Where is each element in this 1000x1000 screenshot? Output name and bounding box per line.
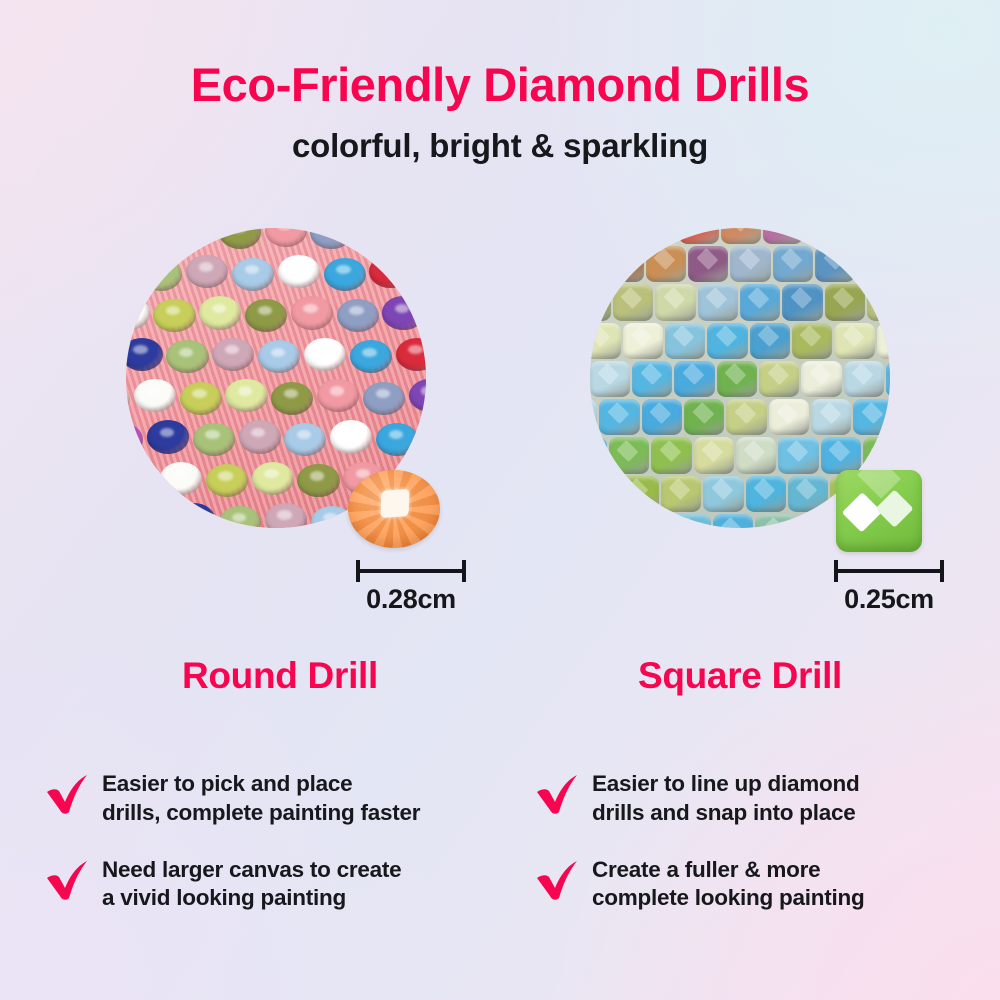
round-drill-bead	[278, 255, 320, 288]
square-drill-bead	[642, 399, 682, 435]
round-drill-bead	[127, 228, 169, 249]
round-drill-bead	[337, 299, 379, 332]
square-drill-bead	[590, 246, 601, 282]
square-drill-bead	[609, 437, 649, 473]
round-size-label: 0.28cm	[350, 584, 472, 615]
square-drill-bead	[778, 437, 818, 473]
list-item: Easier to pick and place drills, complet…	[44, 768, 514, 828]
ruler-cap-left	[356, 560, 360, 582]
round-drill-bead	[173, 503, 215, 528]
square-drill-bead	[590, 476, 617, 512]
square-drill-bead	[811, 399, 851, 435]
round-drill-bead	[134, 379, 176, 412]
square-drill-bead	[853, 399, 890, 435]
square-chip-highlight-left	[842, 492, 882, 532]
round-drill-bead	[396, 338, 426, 371]
ruler-bar	[834, 569, 944, 573]
square-drill-bead	[736, 437, 776, 473]
round-drill-bead	[232, 258, 274, 291]
list-item-label: Need larger canvas to create a vivid loo…	[102, 854, 401, 914]
square-drill-sample-chip	[836, 470, 922, 552]
square-drill-bead	[694, 437, 734, 473]
round-drill-bead	[284, 423, 326, 456]
square-drill-bead	[603, 246, 643, 282]
square-drill-bead	[590, 437, 607, 473]
square-drill-bead	[848, 228, 888, 244]
square-drill-bead	[688, 246, 728, 282]
round-drill-bead	[297, 464, 339, 497]
square-drill-bead	[801, 361, 841, 397]
square-drill-bead	[844, 361, 884, 397]
header-block: Eco-Friendly Diamond Drills colorful, br…	[0, 60, 1000, 165]
round-drill-bead	[160, 462, 202, 495]
square-drill-bead	[636, 228, 676, 244]
ruler-cap-left	[834, 560, 838, 582]
round-drill-bead	[193, 423, 235, 456]
round-drill-bead	[126, 423, 143, 456]
square-drill-bead	[590, 284, 611, 320]
round-drill-bead	[265, 503, 307, 528]
square-drill-panel: 0.25cm	[528, 222, 948, 642]
ruler-cap-right	[940, 560, 944, 582]
square-drill-bead	[703, 476, 743, 512]
square-drill-bead	[590, 361, 630, 397]
round-drill-bead	[186, 255, 228, 288]
check-mark-icon	[534, 772, 582, 816]
square-drill-bead	[590, 228, 592, 244]
round-drill-panel: 0.28cm	[60, 222, 480, 642]
round-drill-bead	[212, 338, 254, 371]
square-drill-bead	[863, 437, 890, 473]
round-drill-bead	[199, 296, 241, 329]
round-drill-bead	[126, 464, 156, 497]
round-drill-bead	[126, 338, 163, 371]
round-chip-highlight	[381, 489, 409, 518]
round-drill-bead	[219, 506, 261, 529]
check-mark-icon	[534, 858, 582, 902]
page-title: Eco-Friendly Diamond Drills	[0, 60, 1000, 109]
round-drill-bead	[127, 506, 169, 529]
round-drill-bead	[126, 296, 150, 329]
square-drill-bead	[821, 437, 861, 473]
round-drill-bead	[239, 420, 281, 453]
square-drill-bead	[684, 399, 724, 435]
square-drill-bead	[646, 246, 686, 282]
round-drill-bead	[422, 420, 426, 453]
square-drill-bead	[730, 246, 770, 282]
square-drill-bead	[623, 323, 663, 359]
round-drill-bead	[324, 258, 366, 291]
square-drill-bead	[599, 399, 639, 435]
check-mark-icon	[44, 858, 92, 902]
square-drill-bead	[594, 228, 634, 244]
round-drill-bead	[415, 258, 426, 291]
square-drill-bead	[613, 284, 653, 320]
square-drill-bead	[867, 284, 890, 320]
square-drill-bead	[590, 514, 626, 528]
square-drill-bead	[857, 246, 890, 282]
square-drill-bead	[655, 284, 695, 320]
square-drill-bead	[628, 514, 668, 528]
square-drill-bead	[755, 514, 795, 528]
round-drill-bead	[376, 423, 418, 456]
check-mark-icon	[44, 772, 92, 816]
square-drill-bead	[788, 476, 828, 512]
square-drill-bead	[721, 228, 761, 244]
round-drill-bead	[369, 255, 411, 288]
round-drill-bead	[180, 382, 222, 415]
round-drill-bead	[382, 296, 424, 329]
square-drill-bead	[740, 284, 780, 320]
round-drill-bead	[126, 382, 130, 415]
round-drill-bead	[311, 506, 353, 529]
round-drill-bead	[363, 382, 405, 415]
square-size-ruler: 0.25cm	[834, 560, 944, 580]
round-drill-bead	[245, 299, 287, 332]
square-drill-bead	[797, 514, 837, 528]
square-drill-bead	[769, 399, 809, 435]
round-drill-bead	[304, 338, 346, 371]
square-drill-bead	[707, 323, 747, 359]
round-drill-bead	[265, 228, 307, 247]
round-drill-bead	[409, 379, 426, 412]
round-size-ruler: 0.28cm	[356, 560, 466, 580]
square-drill-bead	[877, 323, 890, 359]
round-drill-bead	[147, 420, 189, 453]
round-drill-bead	[166, 340, 208, 373]
square-drill-bead	[759, 361, 799, 397]
round-drill-sample-chip	[348, 470, 440, 548]
square-drill-bead	[713, 514, 753, 528]
square-drill-bead	[746, 476, 786, 512]
round-drill-bead	[291, 296, 333, 329]
square-size-label: 0.25cm	[828, 584, 950, 615]
square-drill-bead	[834, 323, 874, 359]
square-drill-bead	[665, 323, 705, 359]
round-drill-benefits: Easier to pick and place drills, complet…	[44, 768, 514, 939]
square-drill-bead	[806, 228, 846, 244]
square-drill-bead	[632, 361, 672, 397]
square-drill-bead	[815, 246, 855, 282]
square-drill-bead	[590, 399, 597, 435]
round-drill-bead	[126, 255, 137, 288]
square-drill-bead	[825, 284, 865, 320]
round-drill-bead	[271, 382, 313, 415]
list-item: Easier to line up diamond drills and sna…	[534, 768, 1000, 828]
square-drill-bead	[782, 284, 822, 320]
square-drill-bead	[679, 228, 719, 244]
square-drill-bead	[717, 361, 757, 397]
list-item-label: Create a fuller & more complete looking …	[592, 854, 865, 914]
round-drill-bead	[153, 299, 195, 332]
list-item-label: Easier to line up diamond drills and sna…	[592, 768, 860, 828]
ruler-bar	[356, 569, 466, 573]
round-drill-title: Round Drill	[50, 655, 510, 697]
list-item: Need larger canvas to create a vivid loo…	[44, 854, 514, 914]
square-drill-bead	[698, 284, 738, 320]
square-drill-bead	[670, 514, 710, 528]
round-drill-bead	[402, 228, 426, 249]
round-drill-bead	[310, 228, 352, 249]
square-drill-bead	[619, 476, 659, 512]
square-drill-bead	[792, 323, 832, 359]
list-item: Create a fuller & more complete looking …	[534, 854, 1000, 914]
round-drill-bead	[225, 379, 267, 412]
page-subtitle: colorful, bright & sparkling	[0, 127, 1000, 165]
round-drill-bead	[330, 420, 372, 453]
round-drill-bead	[356, 228, 398, 247]
square-drill-bead	[750, 323, 790, 359]
square-drill-title: Square Drill	[510, 655, 970, 697]
square-drill-bead	[674, 361, 714, 397]
infographic-poster: Eco-Friendly Diamond Drills colorful, br…	[0, 0, 1000, 1000]
round-drill-bead	[252, 462, 294, 495]
square-drill-bead	[726, 399, 766, 435]
ruler-cap-right	[462, 560, 466, 582]
square-drill-bead	[590, 323, 621, 359]
round-drill-bead	[219, 228, 261, 249]
round-drill-bead	[173, 228, 215, 247]
round-drill-bead	[206, 464, 248, 497]
square-drill-bead	[763, 228, 803, 244]
round-drill-bead	[258, 340, 300, 373]
square-drill-bead	[661, 476, 701, 512]
list-item-label: Easier to pick and place drills, complet…	[102, 768, 420, 828]
square-drill-bead	[651, 437, 691, 473]
square-drill-benefits: Easier to line up diamond drills and sna…	[534, 768, 1000, 939]
round-drill-bead	[317, 379, 359, 412]
round-drill-bead	[140, 258, 182, 291]
round-drill-bead	[350, 340, 392, 373]
square-drill-bead	[773, 246, 813, 282]
square-drill-bead	[886, 361, 890, 397]
